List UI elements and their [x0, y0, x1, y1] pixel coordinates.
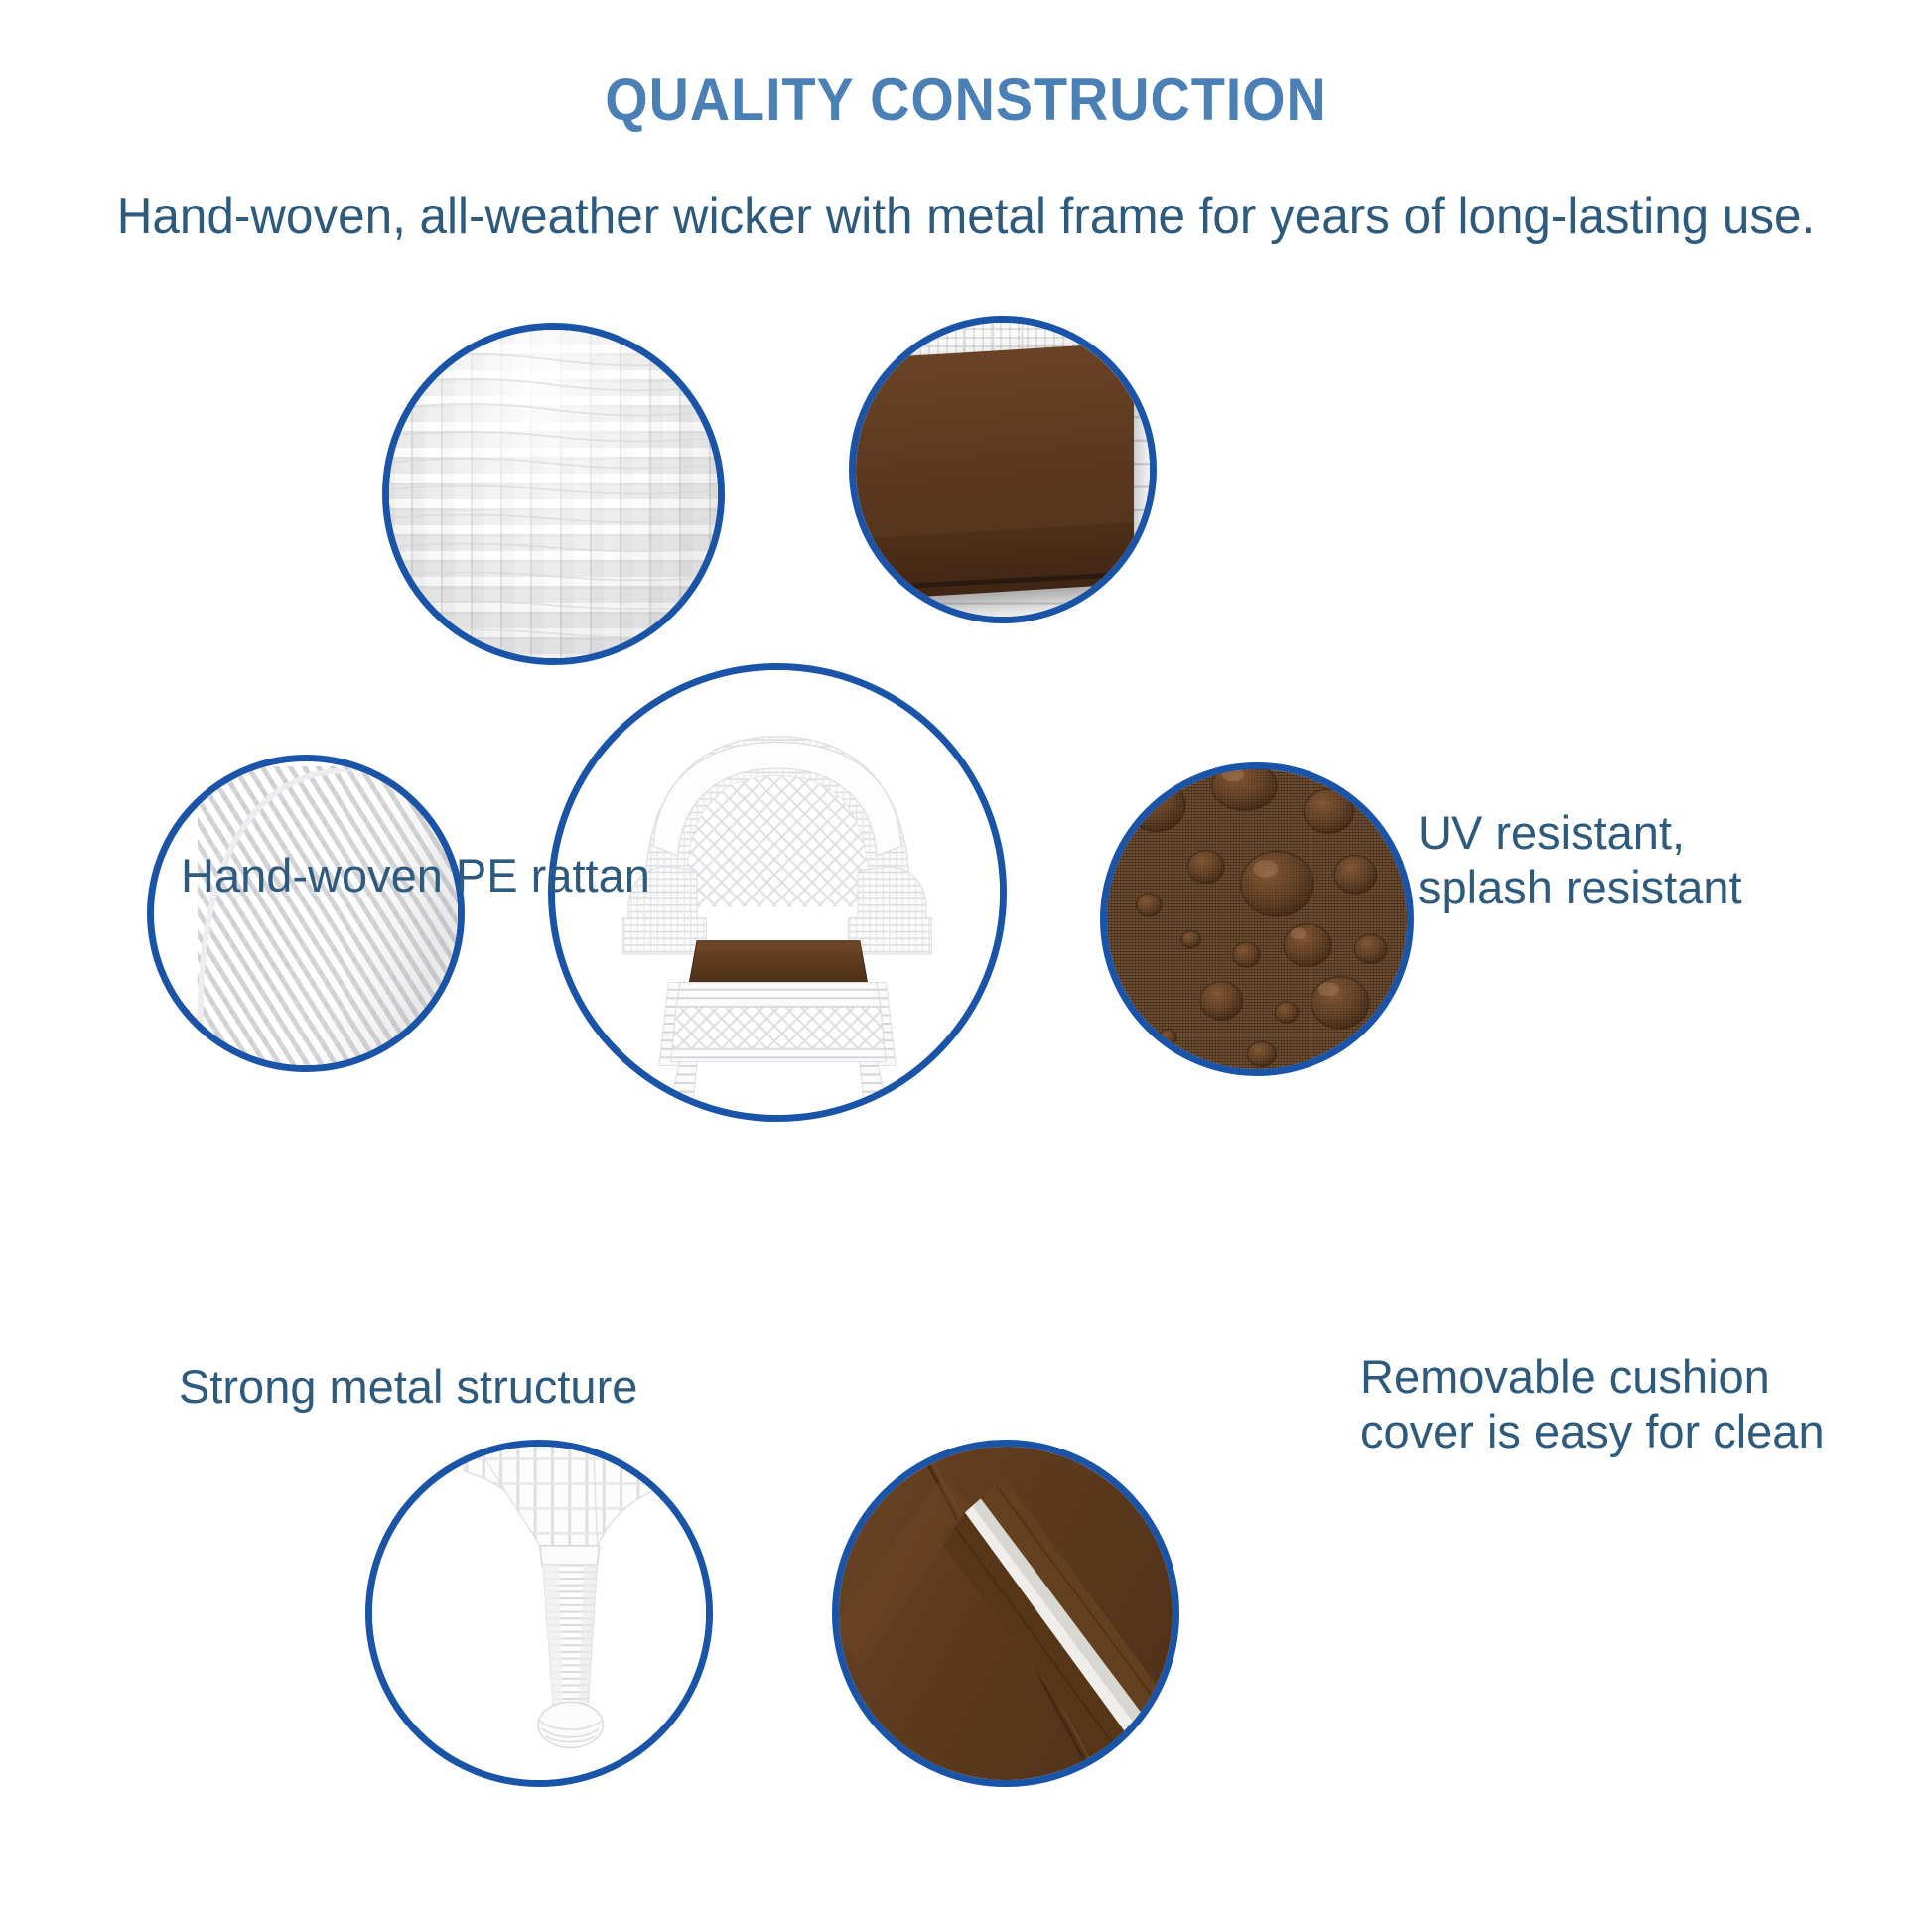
armrest-contour-overlay [147, 755, 465, 1072]
circle-armrest-structure [147, 755, 465, 1072]
chair-front-skirt [670, 1007, 886, 1061]
chair-leg-image [372, 1447, 706, 1780]
page-subtitle: Hand-woven, all-weather wicker with meta… [49, 187, 1884, 246]
circle-cushion-corner [849, 316, 1157, 623]
cushion-corner-image [849, 316, 1157, 623]
caption-uv-splash-resistant: UV resistant, splash resistant [1418, 806, 1742, 914]
circle-cushion-zipper [832, 1440, 1179, 1787]
chair-front-rail [676, 983, 881, 1008]
infographic-root: QUALITY CONSTRUCTION Hand-woven, all-wea… [0, 0, 1932, 1932]
circle-chair-leg [365, 1440, 713, 1787]
page-title: QUALITY CONSTRUCTION [68, 66, 1864, 134]
cushion-zipper-image [832, 1440, 1179, 1787]
chair-front-legs [666, 1062, 892, 1115]
droplet-overlay [1100, 762, 1414, 1076]
weave-strand-overlay [382, 323, 725, 665]
caption-removable-cushion-cover: Removable cushion cover is easy for clea… [1360, 1350, 1825, 1458]
zipper-overlay [832, 1440, 1179, 1787]
weave-closeup-image [382, 323, 725, 665]
caption-strong-metal-structure: Strong metal structure [179, 1360, 637, 1415]
water-droplets-image [1100, 762, 1414, 1076]
circle-weave-closeup [382, 323, 725, 665]
chair-leg-illustration [372, 1447, 706, 1780]
caption-hand-woven-pe-rattan: Hand-woven PE rattan [181, 849, 650, 903]
armrest-image [147, 755, 465, 1072]
seat-cushion [689, 941, 867, 983]
circle-water-droplets [1100, 762, 1414, 1076]
